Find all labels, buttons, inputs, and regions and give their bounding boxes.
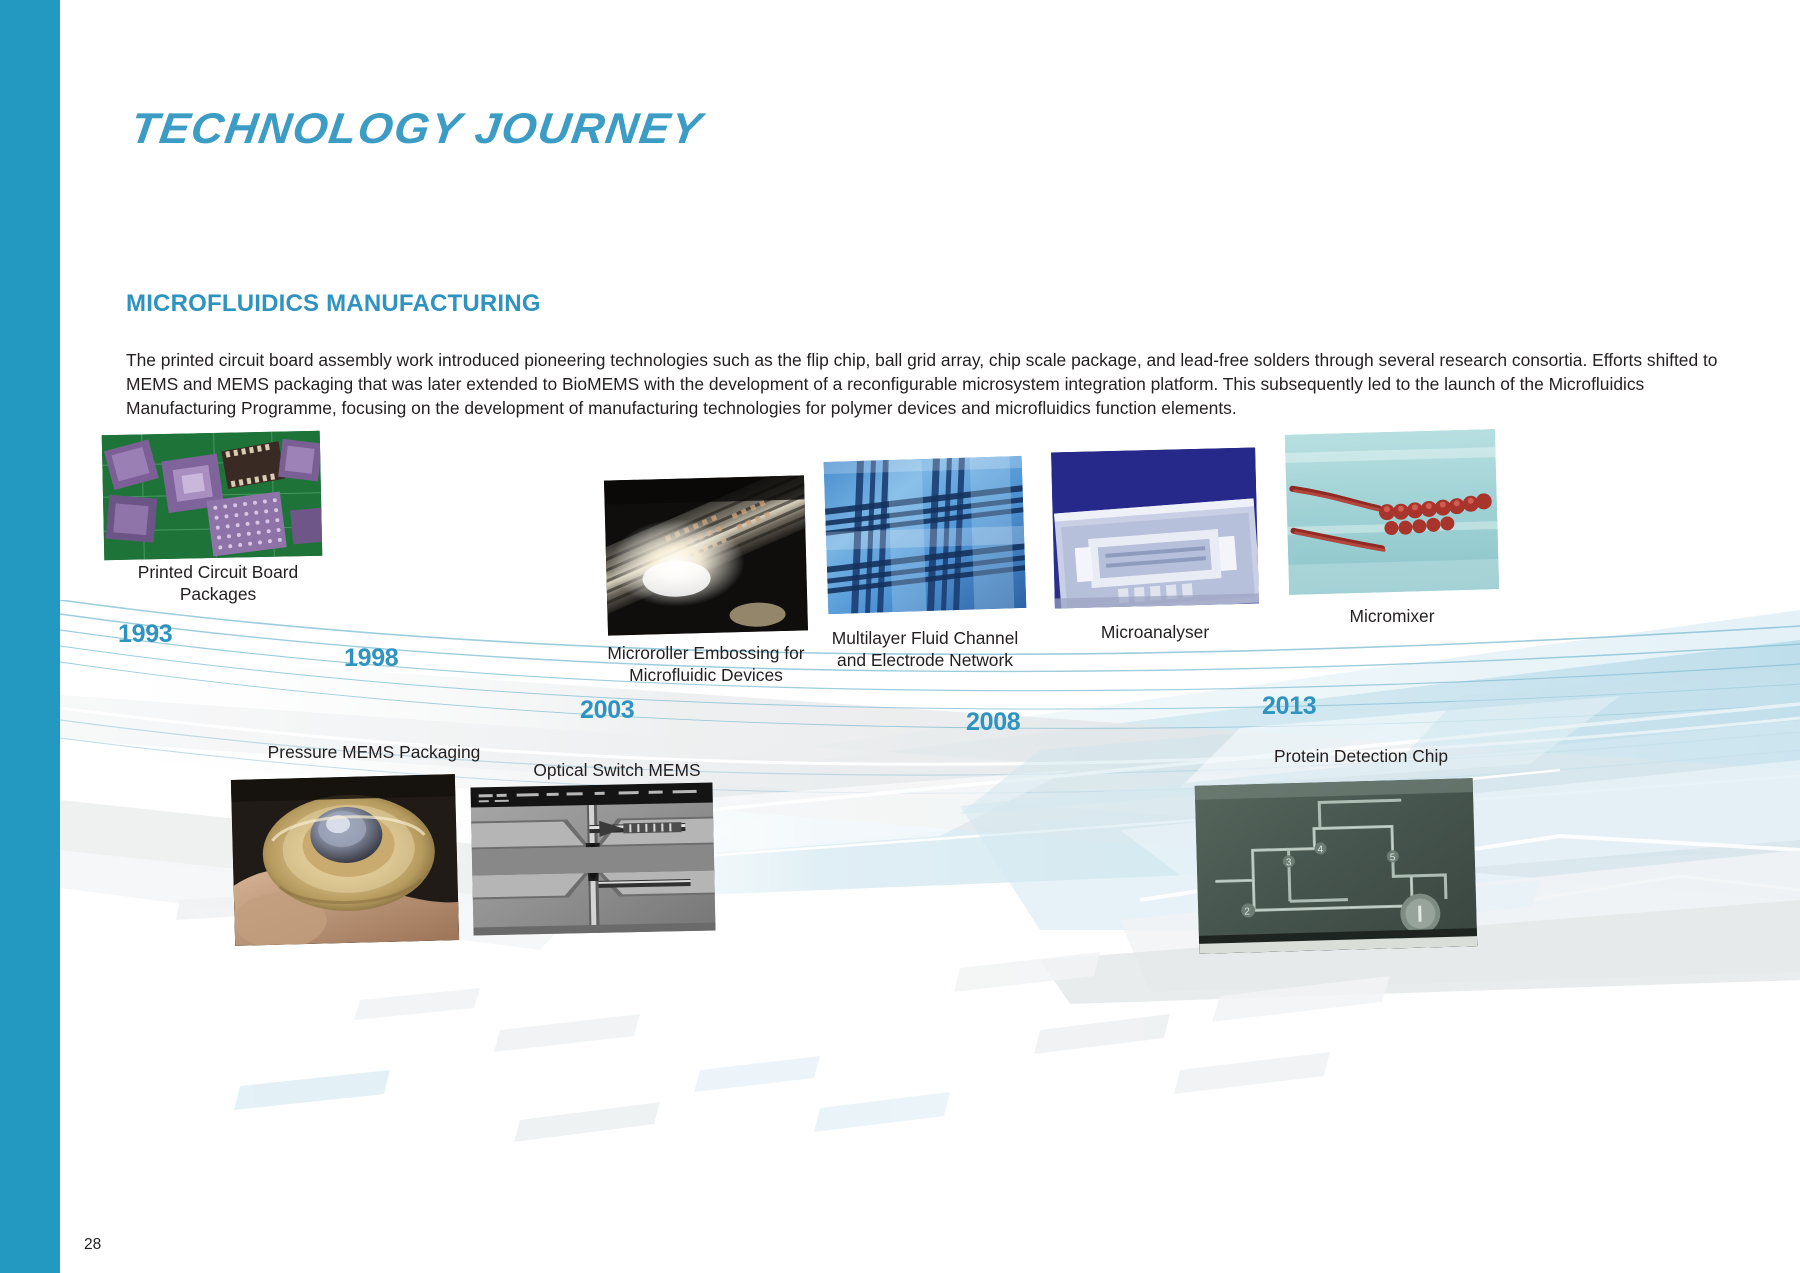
page-title-wrapper: TECHNOLOGY JOURNEY	[128, 108, 677, 151]
caption-line-1: Protein Detection Chip	[1248, 746, 1474, 768]
svg-text:2: 2	[1244, 906, 1250, 917]
caption-printed-circuit-board-packages: Printed Circuit Board Packages	[103, 562, 333, 606]
year-2013: 2013	[1262, 692, 1316, 721]
microanalyser-photo	[1051, 448, 1259, 609]
pcb-photo-graphic	[102, 431, 323, 561]
caption-line-1: Multilayer Fluid Channel	[790, 628, 1060, 650]
caption-line-1: Optical Switch MEMS	[500, 760, 734, 782]
caption-line-1: Pressure MEMS Packaging	[262, 742, 486, 764]
optical-switch-mems-photo	[470, 782, 715, 935]
caption-protein-detection-chip: Protein Detection Chip	[1248, 746, 1474, 768]
svg-text:4: 4	[1317, 844, 1323, 855]
caption-line-1: Micromixer	[1282, 606, 1502, 628]
caption-microanalyser: Microanalyser	[1040, 622, 1270, 644]
page-number: 28	[84, 1236, 101, 1254]
caption-line-1: Microanalyser	[1040, 622, 1270, 644]
year-1998: 1998	[344, 644, 398, 673]
multilayer-fluid-channel-photo	[824, 456, 1027, 614]
optical-switch-mems-graphic	[470, 782, 715, 935]
pressure-mems-packaging-photo	[231, 774, 459, 946]
caption-line-1: Printed Circuit Board	[103, 562, 333, 584]
section-heading: MICROFLUIDICS MANUFACTURING	[126, 290, 541, 318]
page-canvas: RESEARCH@SIMTech TECHNOLOGY JOURNEY MICR…	[0, 0, 1800, 1273]
multilayer-channel-graphic	[824, 456, 1027, 614]
year-2003: 2003	[580, 696, 634, 725]
caption-micromixer: Micromixer	[1282, 606, 1502, 628]
section-body-text: The printed circuit board assembly work …	[126, 348, 1720, 421]
svg-text:5: 5	[1390, 852, 1396, 863]
caption-line-2: and Electrode Network	[790, 650, 1060, 672]
micromixer-photo	[1285, 429, 1499, 595]
protein-detection-chip-graphic: 3 4 5 2	[1195, 778, 1478, 954]
microroller-photo-graphic	[604, 475, 808, 635]
body-paragraph: The printed circuit board assembly work …	[126, 348, 1720, 421]
caption-line-2: Packages	[103, 584, 333, 606]
page-title: TECHNOLOGY JOURNEY	[128, 108, 705, 151]
svg-text:3: 3	[1286, 857, 1292, 868]
printed-circuit-board-packages-photo	[102, 431, 323, 561]
caption-optical-switch-mems: Optical Switch MEMS	[500, 760, 734, 782]
microroller-embossing-photo	[604, 475, 808, 635]
caption-multilayer-fluid-channel: Multilayer Fluid Channel and Electrode N…	[790, 628, 1060, 672]
micromixer-graphic	[1285, 429, 1499, 595]
pressure-mems-graphic	[231, 774, 459, 946]
year-1993: 1993	[118, 620, 172, 649]
microanalyser-graphic	[1051, 448, 1259, 609]
protein-detection-chip-photo: 3 4 5 2	[1195, 778, 1478, 954]
year-2008: 2008	[966, 708, 1020, 737]
left-brand-spine	[0, 0, 60, 1273]
caption-pressure-mems-packaging: Pressure MEMS Packaging	[262, 742, 486, 764]
